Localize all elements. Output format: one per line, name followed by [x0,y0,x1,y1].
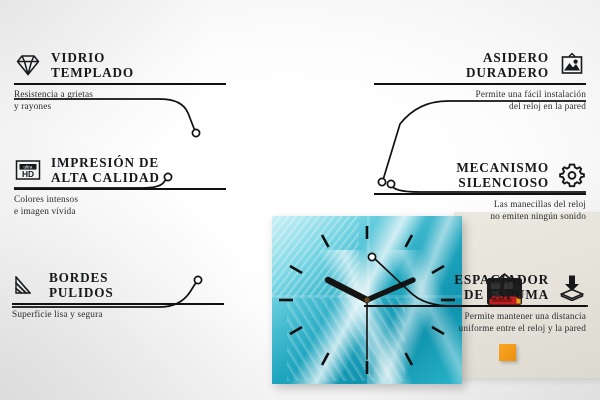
feature-title: BORDES PULIDOS [49,270,114,300]
ultra-hd-icon: ultra HD [14,156,42,184]
divider [14,188,226,190]
feature-title: ASIDERO DURADERO [466,50,549,80]
feature-subtitle: Resistencia a grietas y rayones [14,89,226,114]
feature-mecanismo-silencioso: MECANISMO SILENCIOSO Las manecillas del … [374,160,586,224]
feature-subtitle: Las manecillas del reloj no emiten ningú… [374,199,586,224]
feature-title: IMPRESIÓN DE ALTA CALIDAD [51,155,160,185]
divider [364,305,586,307]
feature-title: VIDRIO TEMPLADO [51,50,134,80]
feature-subtitle: Permite una fácil instalación del reloj … [374,89,586,114]
diamond-icon [14,51,42,79]
feature-title: ESPACIADOR DE ESPUMA [454,272,549,302]
divider [14,83,226,85]
svg-text:HD: HD [22,169,34,179]
picture-hanger-icon [558,51,586,79]
feature-impresion-alta-calidad: ultra HD IMPRESIÓN DE ALTA CALIDAD Color… [14,155,226,219]
feature-subtitle: Colores intensos e imagen vívida [14,194,226,219]
feature-asidero-duradero: ASIDERO DURADERO Permite una fácil insta… [374,50,586,114]
feature-title: MECANISMO SILENCIOSO [456,160,549,190]
product-infographic: VIDRIO TEMPLADO Resistencia a grietas y … [0,0,600,400]
divider [374,193,586,195]
polished-edges-icon [12,271,40,299]
divider [12,303,224,305]
feature-vidrio-templado: VIDRIO TEMPLADO Resistencia a grietas y … [14,50,226,114]
feature-espaciador-de-espuma: ESPACIADOR DE ESPUMA Permite mantener un… [364,272,586,336]
feature-bordes-pulidos: BORDES PULIDOS Superficie lisa y segura [12,270,224,321]
feature-subtitle: Permite mantener una distancia uniforme … [364,311,586,336]
foam-spacer-icon [558,273,586,301]
divider [374,83,586,85]
feature-subtitle: Superficie lisa y segura [12,309,224,321]
gear-icon [558,161,586,189]
